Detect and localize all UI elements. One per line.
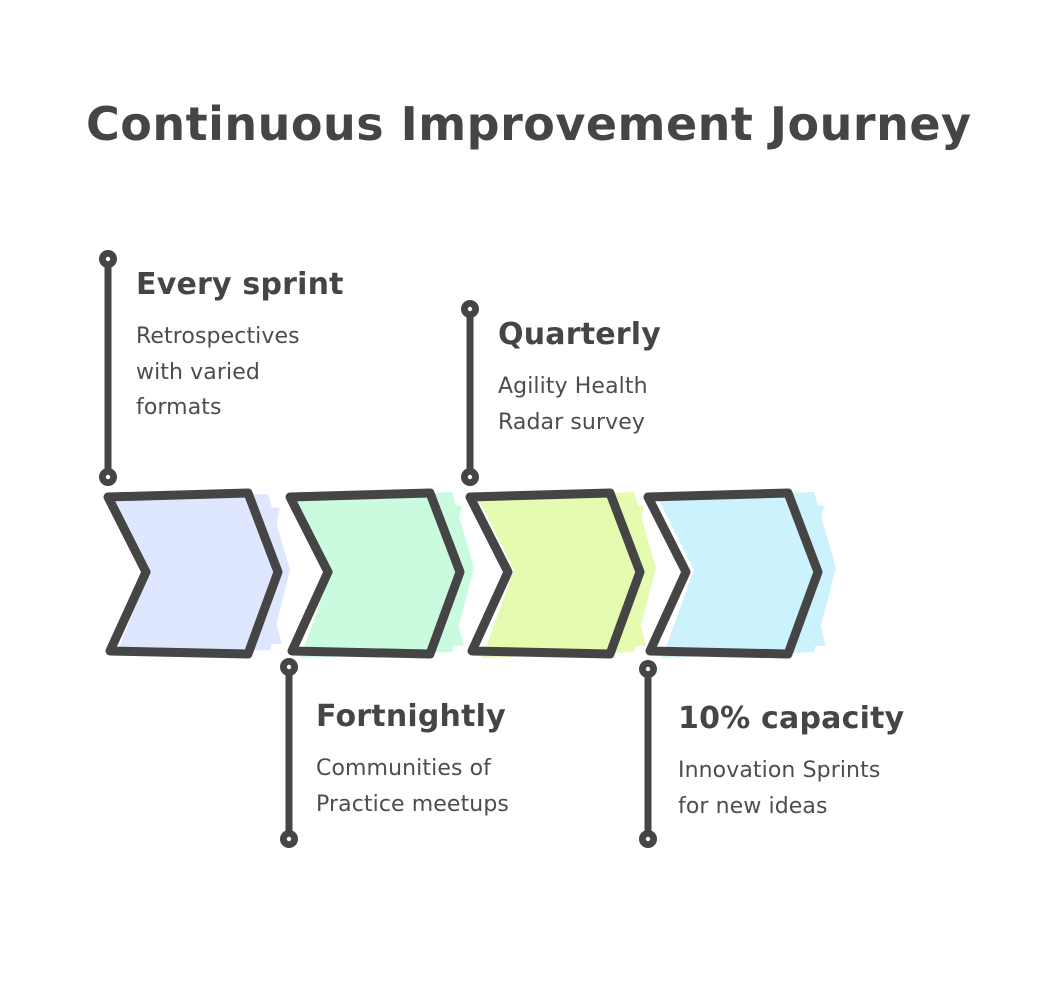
callout-heading: Fortnightly — [316, 700, 509, 733]
connector-dot-top-2 — [461, 300, 479, 318]
chevron-fill-2a — [296, 492, 474, 658]
chevron-fill-1b — [124, 496, 282, 644]
callout-heading: 10% capacity — [678, 702, 904, 735]
callout-fortnightly: Fortnightly Communities of Practice meet… — [316, 700, 509, 822]
chevron-fill-4a — [658, 492, 836, 658]
callout-quarterly: Quarterly Agility Health Radar survey — [498, 318, 661, 440]
chevron-outline-3 — [470, 493, 640, 654]
chevron-fill-3b — [488, 494, 646, 646]
page-title: Continuous Improvement Journey — [86, 98, 986, 151]
callout-heading: Quarterly — [498, 318, 661, 351]
connector-1 — [99, 250, 117, 486]
callout-heading: Every sprint — [136, 268, 344, 301]
chevron-step-3 — [470, 492, 656, 658]
callout-every-sprint: Every sprint Retrospectives with varied … — [136, 268, 344, 426]
connector-dot-top-3 — [280, 658, 298, 676]
connector-dot-bottom-1 — [99, 468, 117, 486]
connector-dot-bottom-4 — [639, 830, 657, 848]
connector-dot-top-1 — [99, 250, 117, 268]
chevron-fill-2b — [306, 494, 464, 646]
connector-3 — [280, 658, 298, 848]
chevron-step-2 — [290, 492, 474, 658]
callout-body: Innovation Sprints for new ideas — [678, 753, 904, 824]
connector-2 — [461, 300, 479, 486]
chevron-fill-3a — [478, 492, 656, 658]
connector-dot-top-4 — [639, 660, 657, 678]
chevron-step-4 — [648, 492, 836, 658]
connector-dot-bottom-3 — [280, 830, 298, 848]
connector-4 — [639, 660, 657, 848]
callout-body: Retrospectives with varied formats — [136, 319, 344, 426]
chevron-outline-4 — [648, 493, 818, 654]
connector-dot-bottom-2 — [461, 468, 479, 486]
chevron-outline-1 — [108, 493, 278, 654]
chevron-fill-1a — [112, 494, 290, 656]
callout-body: Communities of Practice meetups — [316, 751, 509, 822]
chevron-step-1 — [108, 493, 290, 656]
chevron-fill-4b — [668, 494, 826, 646]
chevron-outline-2 — [290, 493, 460, 654]
diagram-canvas: Continuous Improvement Journey — [0, 0, 1056, 984]
callout-body: Agility Health Radar survey — [498, 369, 661, 440]
callout-ten-percent-capacity: 10% capacity Innovation Sprints for new … — [678, 702, 904, 824]
